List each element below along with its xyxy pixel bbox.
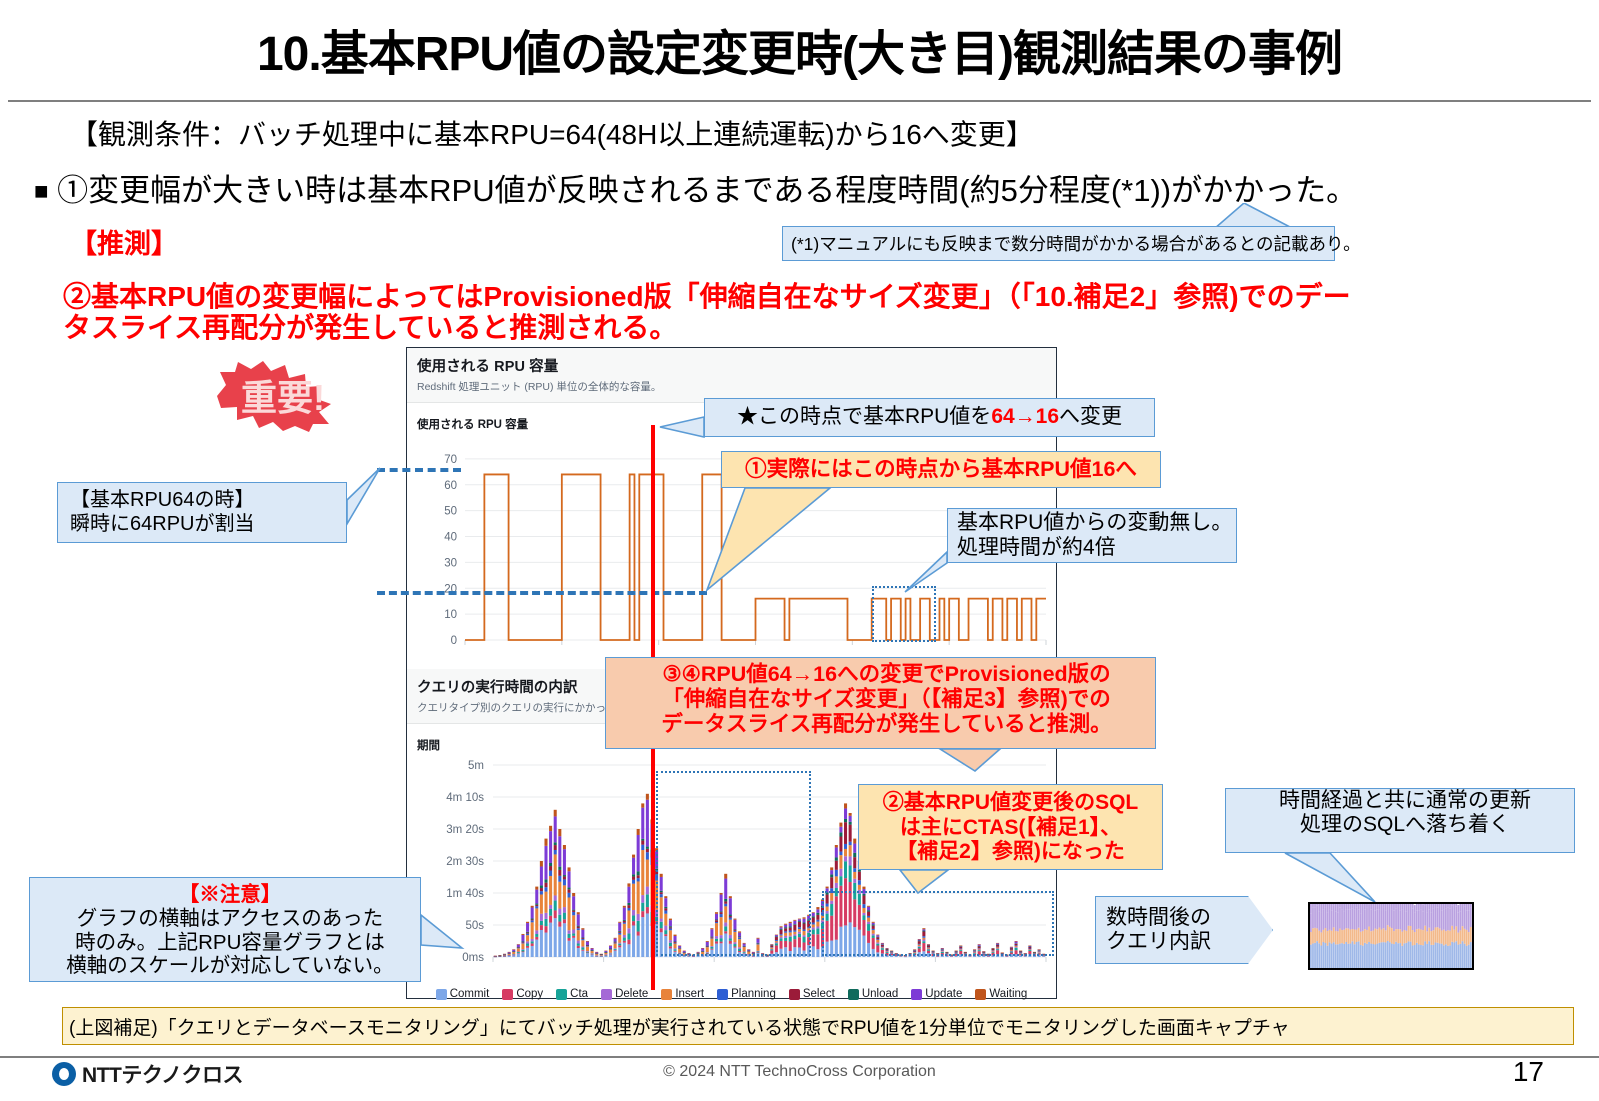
callout-warning-l1: グラフの横軸はアクセスのあった — [77, 907, 383, 931]
legend-item-commit[interactable]: Commit — [436, 988, 490, 1000]
query-bar-segment — [835, 870, 838, 877]
query-bar-segment — [646, 800, 649, 847]
query-bar-segment — [646, 913, 649, 957]
query-bar-segment — [512, 949, 515, 950]
query-bar-segment — [1042, 956, 1045, 957]
query-bar-segment — [572, 915, 575, 929]
query-bar-segment — [641, 917, 644, 957]
query-bar-segment — [835, 847, 838, 857]
query-bar-segment — [517, 953, 520, 954]
query-bar-segment — [812, 913, 815, 916]
legend-label: Update — [925, 988, 962, 1000]
callout-settle: 時間経過と共に通常の更新 処理のSQLへ落ち着く — [1225, 788, 1575, 853]
query-bar-segment — [581, 946, 584, 947]
legend-item-select[interactable]: Select — [789, 988, 835, 1000]
query-bar-segment — [498, 955, 501, 956]
query-bar-segment — [637, 921, 640, 932]
query-bar-segment — [581, 947, 584, 949]
query-bar-segment — [563, 845, 566, 849]
query-bar-segment — [849, 845, 852, 856]
legend-swatch-icon — [502, 989, 513, 1000]
query-bar-segment — [549, 916, 552, 923]
query-bar-segment — [568, 888, 571, 890]
query-bar-segment — [812, 946, 815, 957]
legend-item-insert[interactable]: Insert — [661, 988, 704, 1000]
query-ytick-5: 4m 10s — [446, 792, 484, 804]
query-bar-segment — [512, 952, 515, 954]
query-bar-segment — [568, 893, 571, 898]
query-bar-segment — [623, 924, 626, 935]
query-bar-segment — [945, 956, 948, 957]
query-bar-segment — [853, 868, 856, 872]
query-bar-segment — [586, 946, 589, 947]
query-bar-segment — [581, 951, 584, 957]
query-bar-segment — [853, 879, 856, 883]
query-bar-segment — [950, 956, 953, 957]
query-bar-segment — [544, 919, 547, 926]
query-ytick-3: 2m 30s — [446, 856, 484, 868]
query-bar-segment — [531, 922, 534, 939]
query-bar-segment — [498, 956, 501, 957]
query-bar-segment — [623, 938, 626, 941]
query-bar-segment — [646, 907, 649, 913]
query-bar-segment — [609, 953, 612, 954]
query-bar-segment — [531, 943, 534, 946]
query-legend: CommitCopyCtaDeleteInsertPlanningSelectU… — [407, 988, 1056, 1000]
query-bar-segment — [591, 953, 594, 954]
query-bar-segment — [627, 911, 630, 929]
query-bar-segment — [544, 926, 547, 932]
legend-label: Select — [803, 988, 835, 1000]
query-bar-segment — [623, 935, 626, 938]
query-bar-segment — [632, 921, 635, 925]
query-bar-segment — [835, 845, 838, 847]
query-bar-segment — [637, 829, 640, 835]
legend-swatch-icon — [717, 989, 728, 1000]
query-bar-segment — [586, 947, 589, 951]
query-bar-segment — [554, 895, 557, 900]
query-ytick-0: 0ms — [462, 952, 484, 964]
figure-supplement-note: (上図補足)「クエリとデータベースモニタリング」にてバッチ処理が実行されている状… — [62, 1007, 1574, 1045]
query-bar-segment — [595, 955, 598, 956]
callout-warning-l2: 時のみ。上記RPU容量グラフとは — [75, 931, 385, 955]
query-bar-segment — [853, 839, 856, 844]
query-bar-segment — [632, 910, 635, 915]
query-bar-segment — [517, 944, 520, 945]
query-bar-segment — [572, 933, 575, 935]
query-bar-segment — [637, 871, 640, 875]
callout-warning-l3: 横軸のスケールが対応していない。 — [66, 954, 393, 978]
query-bar-segment — [830, 867, 833, 870]
query-bar-segment — [812, 918, 815, 923]
query-bar-segment — [862, 887, 865, 889]
query-bar-segment — [581, 950, 584, 951]
query-bar-segment — [609, 954, 612, 955]
legend-label: Waiting — [989, 988, 1027, 1000]
query-bar-segment — [609, 954, 612, 957]
query-bar-segment — [604, 952, 607, 953]
query-bar-segment — [766, 956, 769, 957]
page-number: 17 — [1513, 1056, 1544, 1088]
query-bar-segment — [591, 954, 594, 957]
query-bar-segment — [508, 953, 511, 954]
query-bar-segment — [558, 882, 561, 909]
legend-swatch-icon — [975, 989, 986, 1000]
query-bar-segment — [549, 905, 552, 909]
bullet-finding-1: ■ ①変更幅が大きい時は基本RPU値が反映されるまである程度時間(約5分程度(*… — [34, 165, 1357, 210]
query-bar-segment — [835, 861, 838, 870]
query-bar-segment — [540, 914, 543, 921]
query-bar-segment — [812, 927, 815, 929]
query-bar-segment — [577, 946, 580, 948]
query-ytick-1: 50s — [465, 920, 484, 932]
query-bar-segment — [844, 856, 847, 861]
query-bar-segment — [812, 923, 815, 925]
callout-actual-text: ①実際にはこの時点から基本RPU値16へ — [745, 457, 1137, 482]
callout-slice-l3: データスライス再配分が発生していると推測。 — [661, 712, 1111, 737]
legend-label: Commit — [450, 988, 490, 1000]
query-bar-segment — [540, 888, 543, 891]
query-bar-segment — [581, 930, 584, 938]
query-bar-segment — [618, 935, 621, 943]
query-bar-segment — [632, 874, 635, 876]
query-bar-segment — [1024, 956, 1027, 957]
query-bar-segment — [517, 953, 520, 957]
query-bar-segment — [558, 927, 561, 957]
query-bar-segment — [549, 876, 552, 905]
query-bar-segment — [549, 826, 552, 831]
query-bar-segment — [544, 883, 547, 888]
query-bar-segment — [512, 955, 515, 956]
query-bar-segment — [627, 887, 630, 903]
legend-label: Copy — [516, 988, 543, 1000]
callout-hours-later: 数時間後の クエリ内訳 — [1095, 896, 1273, 964]
query-bar-segment — [604, 954, 607, 955]
legend-item-unload[interactable]: Unload — [848, 988, 898, 1000]
query-bar-segment — [614, 951, 617, 957]
reference-line-rpu16 — [377, 591, 707, 595]
query-bar-segment — [549, 866, 552, 870]
query-bar-segment — [544, 892, 547, 913]
legend-label: Cta — [570, 988, 588, 1000]
query-bar-segment — [558, 909, 561, 915]
legend-item-update[interactable]: Update — [911, 988, 962, 1000]
query-bar-segment — [577, 912, 580, 914]
query-bar-segment — [614, 950, 617, 951]
legend-item-planning[interactable]: Planning — [717, 988, 776, 1000]
query-bar-segment — [858, 885, 861, 890]
query-bar-segment — [540, 885, 543, 888]
query-bar-segment — [641, 839, 644, 841]
query-bar-segment — [521, 951, 524, 952]
query-bar-segment — [540, 861, 543, 866]
query-bar-segment — [540, 891, 543, 894]
query-bar-segment — [563, 849, 566, 875]
legend-swatch-icon — [848, 989, 859, 1000]
query-bar-segment — [849, 822, 852, 825]
query-bar-segment — [558, 876, 561, 882]
query-bar-segment — [614, 943, 617, 948]
query-bar-segment — [526, 935, 529, 941]
query-bar-segment — [835, 883, 838, 888]
query-bar-segment — [554, 910, 557, 918]
query-bar-segment — [618, 943, 621, 944]
query-bar-segment — [844, 844, 847, 849]
inference-paragraph: ②基本RPU値の変更幅によってはProvisioned版「伸縮自在なサイズ変更」… — [63, 281, 1353, 344]
query-bar-segment — [535, 906, 538, 908]
query-bar-segment — [581, 939, 584, 940]
query-bar-segment — [586, 941, 589, 942]
query-bar-segment — [618, 922, 621, 923]
query-bar-segment — [549, 831, 552, 863]
query-bar-segment — [641, 845, 644, 850]
query-bar-segment — [558, 867, 561, 870]
query-bar-segment — [600, 954, 603, 955]
callout-rpu64-instant: 【基本RPU64の時】 瞬時に64RPUが割当 — [57, 482, 347, 543]
query-bar-segment — [646, 847, 649, 849]
query-bar-segment — [627, 903, 630, 905]
query-bar-segment — [577, 914, 580, 925]
query-bar-segment — [540, 921, 543, 925]
query-bar-segment — [627, 944, 630, 957]
query-bar-segment — [577, 941, 580, 944]
query-bar-segment — [521, 950, 524, 952]
query-bar-segment — [600, 956, 603, 957]
query-bar-segment — [609, 953, 612, 954]
callout-actual-change: ①実際にはこの時点から基本RPU値16へ — [721, 451, 1161, 488]
query-bar-segment — [627, 928, 630, 933]
query-bar-segment — [839, 869, 842, 876]
query-bar-segment — [563, 907, 566, 913]
highlight-box-query-settled — [822, 891, 1054, 956]
query-bar-segment — [632, 884, 635, 910]
query-bar-segment — [618, 945, 621, 947]
query-bar-segment — [549, 871, 552, 876]
callout-rpu64-l2: 瞬時に64RPUが割当 — [70, 513, 254, 536]
query-bar-segment — [531, 918, 534, 919]
query-bar-segment — [544, 913, 547, 919]
bullet-marker: ■ — [34, 178, 49, 205]
query-bar-segment — [839, 876, 842, 886]
query-bar-segment — [544, 933, 547, 957]
query-bar-segment — [554, 845, 557, 850]
query-bar-segment — [581, 940, 584, 946]
query-bar-segment — [830, 877, 833, 888]
query-bar-segment — [521, 943, 524, 944]
legend-swatch-icon — [556, 989, 567, 1000]
query-bar-segment — [987, 956, 990, 957]
rpu-card-title: 使用される RPU 容量 — [417, 355, 1046, 376]
important-stamp-label: 重要! — [241, 377, 325, 418]
query-bar-segment — [627, 883, 630, 886]
query-bar-segment — [540, 925, 543, 930]
query-bar-segment — [609, 949, 612, 952]
query-bar-segment — [517, 948, 520, 951]
query-bar-segment — [614, 948, 617, 949]
query-bar-segment — [830, 870, 833, 874]
query-bar-segment — [558, 922, 561, 927]
query-bar-segment — [554, 816, 557, 842]
query-bar-segment — [618, 947, 621, 957]
query-bar-segment — [816, 934, 819, 949]
legend-swatch-icon — [436, 989, 447, 1000]
callout-ctas: ②基本RPU値変更後のSQL は主にCTAS(【補足1】、 【補足2】参照)にな… — [858, 784, 1163, 870]
query-bar-segment — [614, 942, 617, 943]
query-bar-segment — [568, 941, 571, 957]
query-bar-segment — [572, 938, 575, 957]
bullet-finding-1-text: ①変更幅が大きい時は基本RPU値が反映されるまである程度時間(約5分程度(*1)… — [57, 173, 1357, 208]
query-bar-segment — [521, 952, 524, 957]
query-bar-segment — [609, 945, 612, 946]
callout-ctas-l3: 【補足2】参照)になった — [896, 840, 1125, 864]
query-bar-segment — [641, 841, 644, 845]
query-bar-segment — [614, 939, 617, 942]
query-bar-segment — [544, 879, 547, 882]
query-bar-segment — [844, 803, 847, 808]
query-bar-segment — [591, 948, 594, 950]
figure-supplement-text: (上図補足)「クエリとデータベースモニタリング」にてバッチ処理が実行されている状… — [69, 1013, 1290, 1040]
query-bar-segment — [853, 857, 856, 868]
legend-item-copy[interactable]: Copy — [502, 988, 543, 1000]
mini-query-breakdown-thumbnail — [1308, 902, 1474, 970]
footnote-callout: (*1)マニュアルにも反映まで数分時間がかかる場合があるとの記載あり。 — [782, 226, 1335, 261]
query-bar-segment — [595, 952, 598, 953]
legend-label: Planning — [731, 988, 776, 1000]
query-bar-segment — [632, 925, 635, 957]
query-bar-segment — [577, 948, 580, 957]
query-bar-segment — [849, 842, 852, 845]
query-bar-segment — [595, 953, 598, 954]
query-bar-segment — [535, 905, 538, 906]
query-bar-segment — [932, 956, 935, 957]
query-bar-segment — [591, 951, 594, 953]
query-bar-segment — [849, 865, 852, 882]
query-bar-segment — [816, 909, 819, 912]
query-bar-segment — [839, 823, 842, 827]
query-bar-segment — [858, 872, 861, 881]
query-bar-segment — [526, 934, 529, 936]
query-bar-segment — [604, 953, 607, 955]
query-bar-segment — [508, 952, 511, 953]
query-bar-segment — [540, 930, 543, 957]
query-bar-segment — [521, 949, 524, 950]
query-bar-segment — [526, 922, 529, 923]
callout-data-slice-redistribution: ③④RPU値64→16への変更でProvisioned版の 「伸縮自在なサイズ変… — [605, 657, 1156, 749]
query-bar-segment — [535, 937, 538, 940]
query-bar-segment — [586, 945, 589, 946]
query-bar-segment — [563, 876, 566, 879]
query-bar-segment — [526, 941, 529, 943]
legend-label: Delete — [615, 988, 648, 1000]
query-bar-segment — [632, 855, 635, 858]
query-bar-segment — [521, 941, 524, 942]
query-bar-segment — [844, 819, 847, 822]
query-bar-segment — [899, 956, 902, 957]
query-bar-segment — [816, 949, 819, 957]
legend-swatch-icon — [789, 989, 800, 1000]
query-bar-segment — [844, 849, 847, 856]
query-bar-segment — [646, 860, 649, 887]
query-bar-segment — [968, 956, 971, 957]
query-bar-segment — [816, 927, 819, 929]
query-bar-segment — [637, 932, 640, 936]
query-bar-segment — [586, 942, 589, 945]
query-bar-segment — [554, 901, 557, 911]
query-bar-segment — [895, 956, 898, 957]
query-bar-segment — [618, 944, 621, 946]
query-bar-segment — [526, 933, 529, 934]
copyright: © 2024 NTT TechnoCross Corporation — [0, 1063, 1599, 1081]
legend-item-delete[interactable]: Delete — [601, 988, 648, 1000]
query-bar-segment — [839, 827, 842, 833]
query-bar-segment — [508, 955, 511, 956]
legend-swatch-icon — [911, 989, 922, 1000]
query-bar-segment — [554, 854, 557, 895]
query-bar-segment — [909, 956, 912, 957]
query-bar-segment — [614, 943, 617, 944]
query-bar-segment — [586, 945, 589, 946]
query-bar-segment — [849, 816, 852, 822]
query-bar-segment — [535, 934, 538, 937]
query-bar-segment — [517, 952, 520, 953]
rpu-ytick-60: 60 — [444, 480, 457, 492]
query-bar-segment — [1001, 956, 1004, 957]
query-bar-segment — [563, 885, 566, 907]
callout-hours-later-l2: クエリ内訳 — [1106, 930, 1272, 954]
query-bar-segment — [849, 813, 852, 816]
query-bar-segment — [535, 887, 538, 890]
query-bar-segment — [641, 808, 644, 839]
query-bar-segment — [558, 829, 561, 836]
query-bar-segment — [812, 916, 815, 917]
query-bar-segment — [835, 876, 838, 882]
query-bar-segment — [531, 941, 534, 943]
observation-condition: 【観測条件：バッチ処理中に基本RPU=64(48H以上連続運転)から16へ変更】 — [70, 113, 1034, 153]
query-bar-segment — [646, 849, 649, 852]
query-bar-segment — [577, 928, 580, 930]
query-bar-segment — [632, 916, 635, 922]
query-bar-segment — [521, 934, 524, 935]
callout-ctas-l1: ②基本RPU値変更後のSQL — [883, 791, 1139, 815]
callout-hours-later-l1: 数時間後の — [1106, 906, 1272, 930]
legend-item-cta[interactable]: Cta — [556, 988, 588, 1000]
query-bar-segment — [637, 936, 640, 957]
query-bar-segment — [637, 875, 640, 878]
query-bar-segment — [623, 943, 626, 957]
query-bar-segment — [540, 866, 543, 885]
query-bar-segment — [554, 842, 557, 845]
query-bar-segment — [544, 839, 547, 846]
query-bar-segment — [627, 933, 630, 939]
query-bar-segment — [572, 910, 575, 911]
query-bar-segment — [558, 836, 561, 866]
query-bar-segment — [535, 904, 538, 905]
query-bar-segment — [577, 930, 580, 940]
query-bar-segment — [568, 897, 571, 930]
query-bar-segment — [526, 946, 529, 948]
query-bar-segment — [844, 822, 847, 844]
query-bar-segment — [531, 946, 534, 957]
query-bar-segment — [512, 955, 515, 957]
query-bar-segment — [549, 863, 552, 866]
legend-label: Unload — [862, 988, 898, 1000]
query-bar-segment — [563, 923, 566, 957]
legend-item-waiting[interactable]: Waiting — [975, 988, 1027, 1000]
query-bar-segment — [816, 920, 819, 922]
callout-warning: 【※注意】 グラフの横軸はアクセスのあった 時のみ。上記RPU容量グラフとは 横… — [29, 877, 421, 982]
callout-change-point-value: 64→16 — [991, 405, 1059, 429]
query-bar-segment — [503, 954, 506, 955]
